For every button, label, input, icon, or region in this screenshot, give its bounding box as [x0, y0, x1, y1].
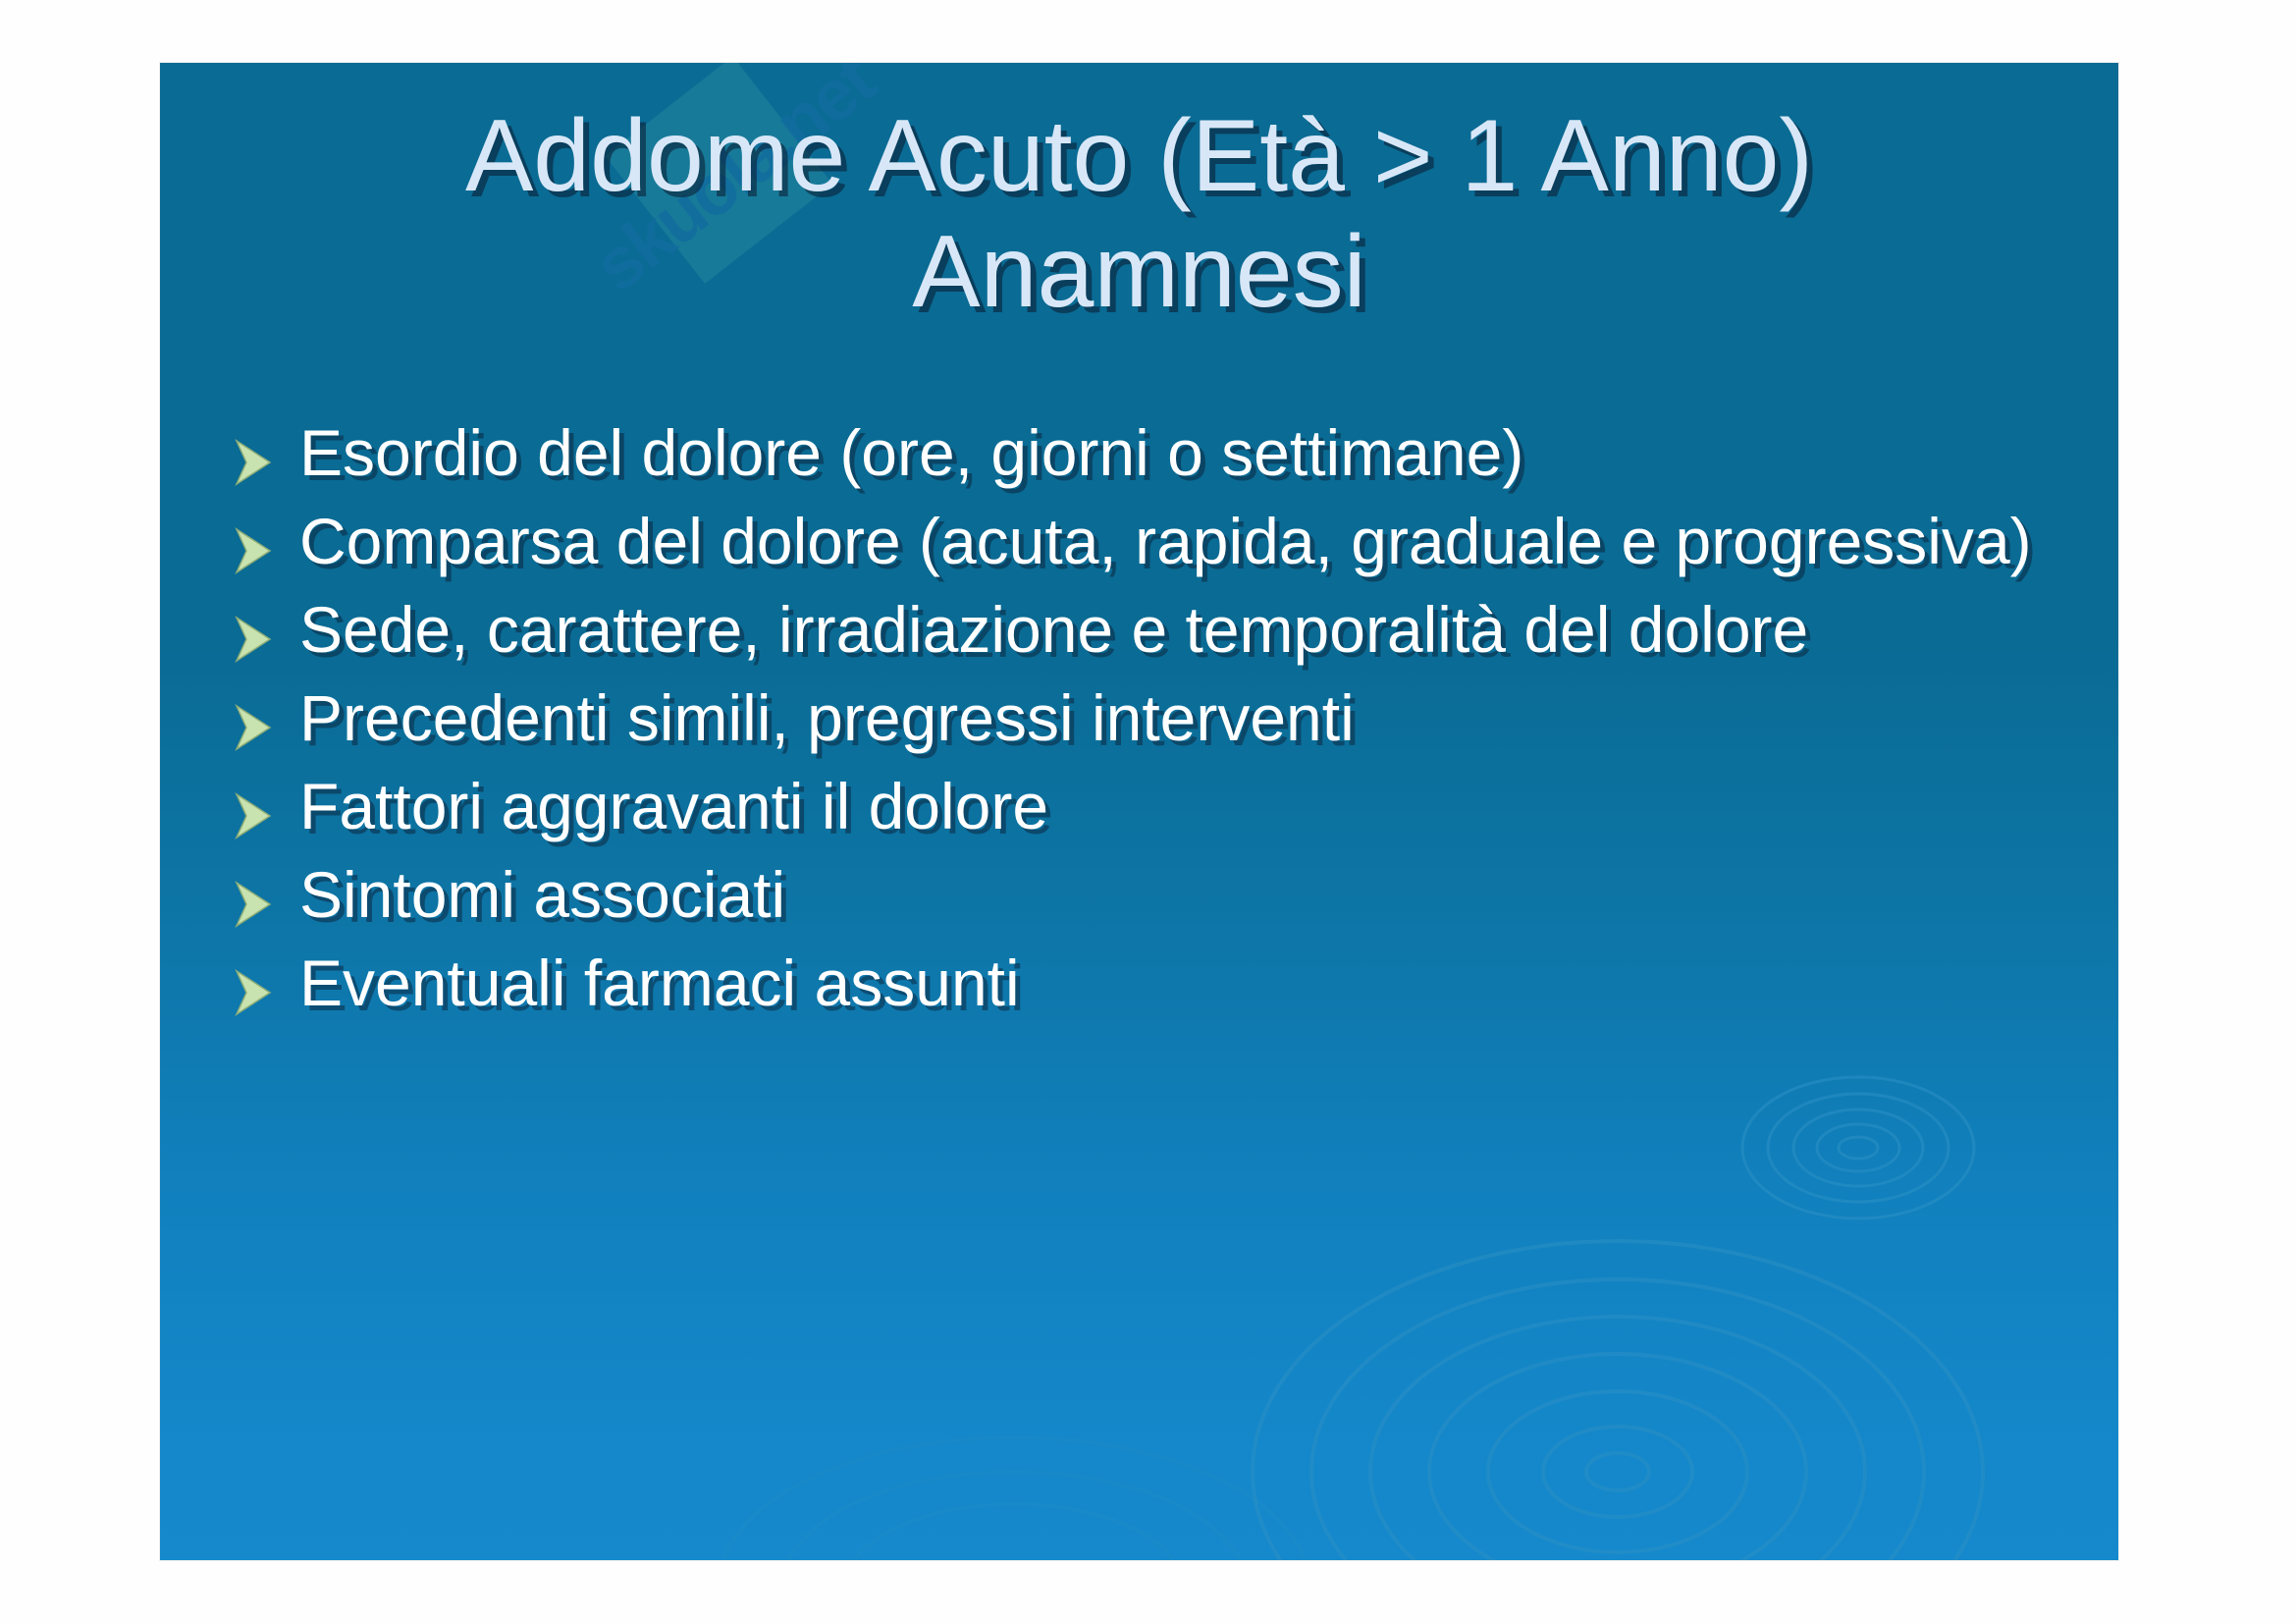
bullet-item: Eventuali farmaci assunti: [182, 942, 2106, 1024]
bullet-list: Esordio del dolore (ore, giorni o settim…: [182, 411, 2106, 1030]
arrowhead-bullet-icon: [182, 942, 299, 1023]
bullet-item-label: Eventuali farmaci assunti: [299, 942, 2106, 1024]
slide-page: skuola.net Addome Acuto (Età > 1 Anno) A…: [0, 0, 2296, 1623]
bullet-item-label: Fattori aggravanti il dolore: [299, 765, 2106, 847]
arrowhead-bullet-icon: [182, 500, 299, 581]
bullet-item: Precedenti simili, pregressi interventi: [182, 676, 2106, 759]
arrowhead-bullet-icon: [182, 676, 299, 758]
slide-title: Addome Acuto (Età > 1 Anno) Anamnesi: [160, 98, 2118, 330]
bullet-item: Esordio del dolore (ore, giorni o settim…: [182, 411, 2106, 494]
arrowhead-bullet-icon: [182, 411, 299, 493]
slide-title-line-1: Addome Acuto (Età > 1 Anno): [160, 98, 2118, 214]
slide-canvas: skuola.net Addome Acuto (Età > 1 Anno) A…: [160, 63, 2118, 1560]
bullet-item-label: Comparsa del dolore (acuta, rapida, grad…: [299, 500, 2106, 582]
ripple-decoration-faint: [710, 1359, 1318, 1560]
bullet-item-label: Sintomi associati: [299, 853, 2106, 936]
bullet-item-label: Esordio del dolore (ore, giorni o settim…: [299, 411, 2106, 494]
arrowhead-bullet-icon: [182, 588, 299, 670]
bullet-item: Fattori aggravanti il dolore: [182, 765, 2106, 847]
bullet-item-label: Precedenti simili, pregressi interventi: [299, 676, 2106, 759]
ripple-decoration-large: [1245, 1226, 1991, 1560]
arrowhead-bullet-icon: [182, 853, 299, 935]
slide-title-line-2: Anamnesi: [160, 214, 2118, 330]
bullet-item: Comparsa del dolore (acuta, rapida, grad…: [182, 500, 2106, 582]
ripple-decoration-small: [1731, 1064, 1986, 1231]
bullet-item: Sintomi associati: [182, 853, 2106, 936]
bullet-item-label: Sede, carattere, irradiazione e temporal…: [299, 588, 2106, 671]
bullet-item: Sede, carattere, irradiazione e temporal…: [182, 588, 2106, 671]
arrowhead-bullet-icon: [182, 765, 299, 846]
